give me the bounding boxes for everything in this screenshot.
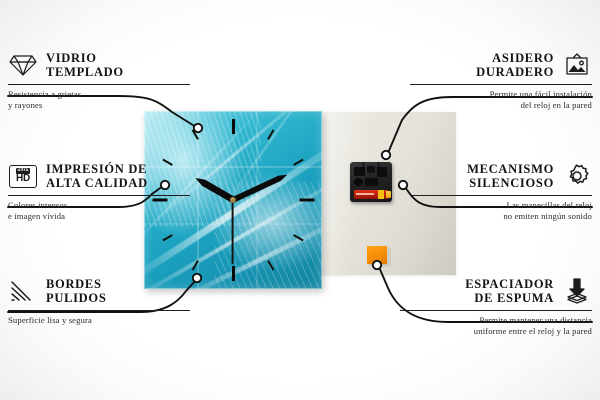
feature-description: Las manecillas del reloj no emiten ningú…	[410, 200, 592, 221]
foam-spacer-pad	[367, 246, 387, 264]
feature-description: Permite una fácil instalación del reloj …	[410, 89, 592, 110]
feature-divider	[8, 310, 190, 311]
ultra-hd-badge: ultra HD	[9, 165, 37, 188]
feature-divider	[400, 310, 592, 311]
battery-band	[356, 193, 374, 195]
feature-title: ASIDERO DURADERO	[476, 51, 554, 79]
mechanism-part	[354, 178, 363, 186]
feature-divider	[8, 84, 190, 85]
feature-description: Permite mantener una distancia uniforme …	[400, 315, 592, 336]
feature-vidrio-templado: VIDRIO TEMPLADO Resistencia a grietas y …	[8, 50, 190, 110]
feature-header: BORDES PULIDOS	[8, 276, 190, 306]
battery-positive-terminal	[378, 190, 384, 199]
polished-edges-icon	[8, 276, 38, 306]
battery-cap	[386, 191, 391, 198]
feature-bordes-pulidos: BORDES PULIDOS Superficie lisa y segura	[8, 276, 190, 326]
feature-espaciador-de-espuma: ESPACIADOR DE ESPUMA Permite mantener un…	[400, 276, 592, 336]
feature-header: ESPACIADOR DE ESPUMA	[400, 276, 592, 306]
feature-title: BORDES PULIDOS	[46, 277, 106, 305]
feature-description: Colores intensos e imagen vívida	[8, 200, 190, 221]
feature-title: ESPACIADOR DE ESPUMA	[465, 277, 554, 305]
ultra-hd-badge-big-text: HD	[16, 174, 30, 184]
feature-header: VIDRIO TEMPLADO	[8, 50, 190, 80]
infographic-canvas: VIDRIO TEMPLADO Resistencia a grietas y …	[0, 0, 600, 400]
clock-mechanism	[350, 162, 392, 202]
gear-icon	[562, 161, 592, 191]
mechanism-part	[354, 167, 365, 176]
feature-divider	[8, 195, 190, 196]
feature-title: MECANISMO SILENCIOSO	[467, 162, 554, 190]
foam-spacer-side	[387, 248, 391, 266]
ultra-hd-icon: ultra HD	[8, 161, 38, 191]
feature-divider	[410, 84, 592, 85]
picture-frame-hanger-icon	[562, 50, 592, 80]
feature-header: ASIDERO DURADERO	[410, 50, 592, 80]
feature-header: MECANISMO SILENCIOSO	[410, 161, 592, 191]
feature-description: Superficie lisa y segura	[8, 315, 190, 326]
foam-spacer-arrow-icon	[562, 276, 592, 306]
feature-impresion-alta-calidad: ultra HD IMPRESIÓN DE ALTA CALIDAD Color…	[8, 161, 190, 221]
aa-battery	[354, 190, 388, 199]
feature-asidero-duradero: ASIDERO DURADERO Permite una fácil insta…	[410, 50, 592, 110]
feature-title: IMPRESIÓN DE ALTA CALIDAD	[46, 162, 148, 190]
mechanism-part	[367, 166, 375, 173]
feature-header: ultra HD IMPRESIÓN DE ALTA CALIDAD	[8, 161, 190, 191]
feature-divider	[410, 195, 592, 196]
diamond-icon	[8, 50, 38, 80]
feature-title: VIDRIO TEMPLADO	[46, 51, 124, 79]
feature-description: Resistencia a grietas y rayones	[8, 89, 190, 110]
mechanism-part	[365, 178, 378, 186]
mechanism-part	[377, 167, 387, 177]
feature-mecanismo-silencioso: MECANISMO SILENCIOSO Las manecillas del …	[410, 161, 592, 221]
